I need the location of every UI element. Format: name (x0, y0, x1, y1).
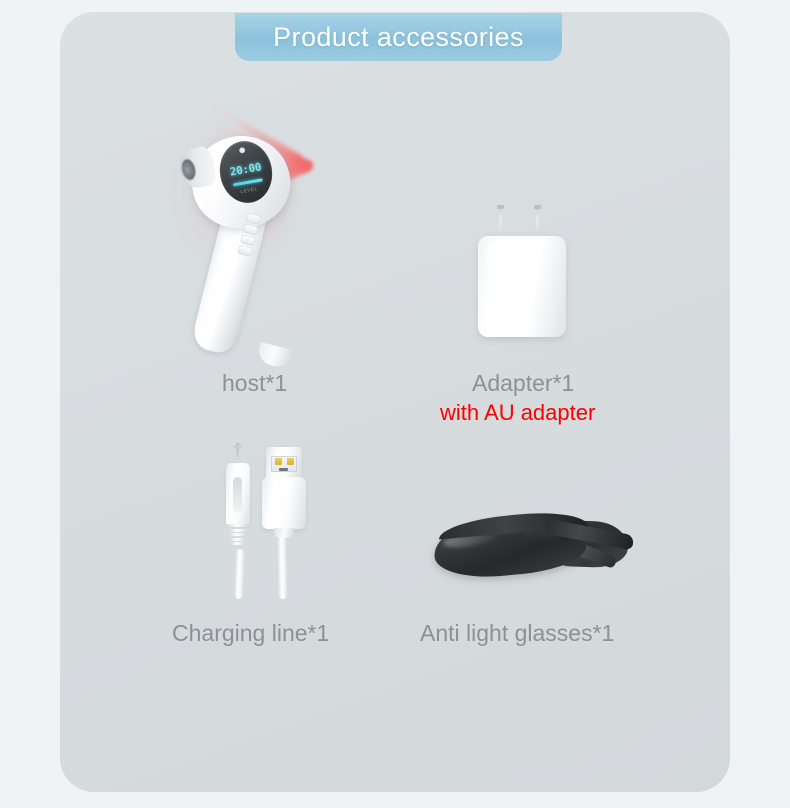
device-button (243, 223, 259, 235)
adapter-body (478, 236, 566, 337)
device-button (237, 245, 253, 257)
charging-cable-image (200, 443, 325, 598)
charging-line-label: Charging line*1 (172, 620, 329, 647)
host-device-image: 20:00 LEVEL (120, 110, 340, 360)
page-header-banner: Product accessories (235, 13, 562, 61)
anti-light-glasses-image (428, 505, 638, 595)
device-button (240, 234, 256, 246)
adapter-note-label: with AU adapter (440, 400, 595, 426)
usb-gold-contact-icon (275, 458, 282, 465)
screen-timer-value: 20:00 (219, 159, 272, 181)
usb-connector-body (262, 477, 306, 529)
usb-contact-slot (279, 468, 288, 471)
usb-gold-contact-icon (287, 458, 294, 465)
product-accessories-page: Product accessories 20:00 LEVEL (0, 0, 790, 808)
adapter-label: Adapter*1 (472, 370, 574, 397)
anti-light-glasses-label: Anti light glasses*1 (420, 620, 614, 647)
dc-jack-pin-icon (236, 443, 239, 465)
dc-jack-strain-relief (228, 524, 248, 550)
adapter-prong-icon (499, 205, 502, 239)
adapter-image (470, 205, 590, 340)
host-label: host*1 (222, 370, 287, 397)
dc-cable-cord (234, 549, 245, 599)
screen-indicator-icon (239, 147, 246, 154)
adapter-prong-icon (536, 205, 539, 239)
dc-jack-body (226, 463, 250, 525)
page-title: Product accessories (273, 22, 524, 53)
device-button (245, 213, 261, 225)
usb-cable-cord (277, 537, 287, 599)
